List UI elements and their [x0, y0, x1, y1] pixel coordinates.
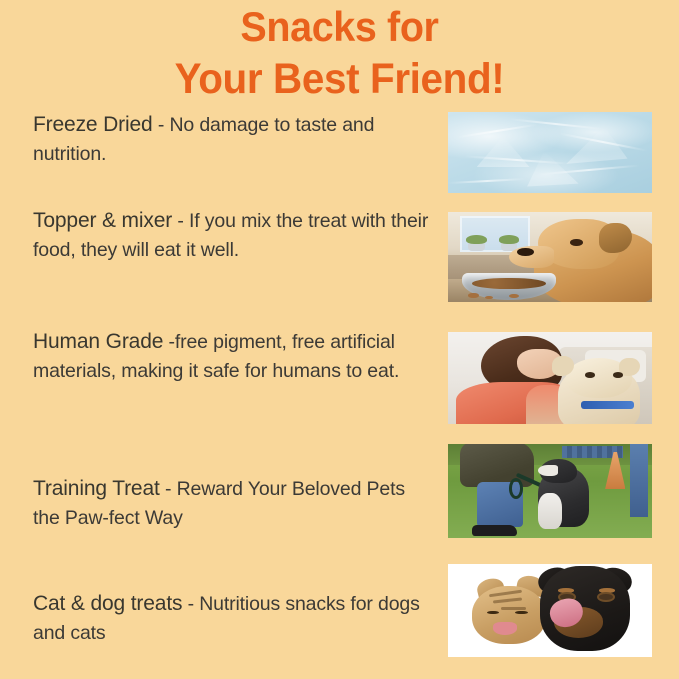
feature-lead-topper-mixer: Topper & mixer	[33, 209, 172, 232]
golden-retriever-food-bowl-photo	[448, 212, 652, 302]
feature-text-topper-mixer: Topper & mixer - If you mix the treat wi…	[33, 206, 433, 265]
feature-lead-training-treat: Training Treat	[33, 477, 160, 500]
feature-text-freeze-dried: Freeze Dried - No damage to taste and nu…	[33, 110, 433, 169]
feature-lead-cat-dog-treats: Cat & dog treats	[33, 592, 182, 615]
dog-training-grass-photo	[448, 444, 652, 538]
feature-row-cat-dog-treats: Cat & dog treats - Nutritious snacks for…	[0, 554, 679, 679]
woman-feeding-puppy-photo	[448, 332, 652, 424]
feature-text-human-grade: Human Grade -free pigment, free artifici…	[33, 327, 433, 386]
feature-row-freeze-dried: Freeze Dried - No damage to taste and nu…	[0, 104, 679, 209]
feature-lead-human-grade: Human Grade	[33, 330, 163, 353]
title-line-2: Your Best Friend!	[20, 54, 658, 104]
feature-row-training-treat: Training Treat - Reward Your Beloved Pet…	[0, 444, 679, 564]
title-line-1: Snacks for	[20, 2, 658, 52]
poster-title: Snacks for Your Best Friend!	[0, 2, 679, 104]
product-feature-poster: Snacks for Your Best Friend! Freeze Drie…	[0, 0, 679, 679]
feature-rows: Freeze Dried - No damage to taste and nu…	[0, 104, 679, 679]
feature-lead-freeze-dried: Freeze Dried	[33, 113, 153, 136]
feature-text-cat-dog-treats: Cat & dog treats - Nutritious snacks for…	[33, 589, 433, 648]
feature-row-topper-mixer: Topper & mixer - If you mix the treat wi…	[0, 200, 679, 318]
feature-row-human-grade: Human Grade -free pigment, free artifici…	[0, 319, 679, 459]
cat-and-dog-portrait-photo	[448, 564, 652, 657]
feature-text-training-treat: Training Treat - Reward Your Beloved Pet…	[33, 474, 433, 533]
frost-ice-texture-photo	[448, 112, 652, 193]
